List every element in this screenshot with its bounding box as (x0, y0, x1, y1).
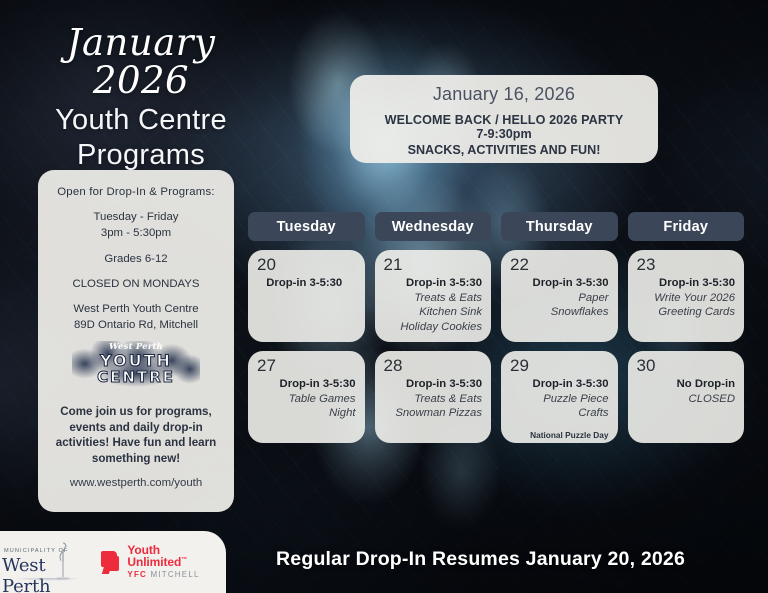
cell-activity-line: Snowflakes (510, 305, 609, 320)
event-date: January 16, 2026 (364, 84, 644, 105)
youth-unlimited-chapter: YFC MITCHELL (127, 569, 218, 580)
cell-date-number: 20 (257, 256, 356, 274)
event-title: WELCOME BACK / HELLO 2026 PARTY (364, 113, 644, 127)
youth-centre-logo: West Perth YOUTH CENTRE (72, 341, 200, 395)
cell-content: Drop-in 3-5:30 Write Your 2026 Greeting … (637, 276, 736, 320)
cell-content: Drop-in 3-5:30 Treats & Eats Snowman Piz… (384, 377, 483, 421)
calendar-cell[interactable]: 21 Drop-in 3-5:30 Treats & Eats Kitchen … (375, 250, 492, 342)
cell-content: Drop-in 3-5:30 Treats & Eats Kitchen Sin… (384, 276, 483, 335)
cell-activity-line: Treats & Eats (384, 392, 483, 407)
day-header-wednesday: Wednesday (375, 212, 492, 241)
day-header-tuesday: Tuesday (248, 212, 365, 241)
info-website-url[interactable]: www.westperth.com/youth (48, 477, 224, 489)
youth-unlimited-logo: Youth Unlimited™ YFC MITCHELL (101, 544, 218, 580)
title-month-year: January 2026 (26, 24, 256, 101)
cell-date-number: 23 (637, 256, 736, 274)
footer-resume-text: Regular Drop-In Resumes January 20, 2026 (276, 548, 685, 571)
cell-activity-line: Treats & Eats (384, 291, 483, 306)
cell-activity-line: Write Your 2026 (637, 291, 736, 306)
cell-activity-line: Puzzle Piece (510, 392, 609, 407)
title-subline-1: Youth Centre (26, 104, 256, 136)
cell-activity-line: Table Games (257, 392, 356, 407)
cell-dropin-label: Drop-in 3-5:30 (510, 276, 609, 291)
cell-date-number: 29 (510, 357, 609, 375)
cell-date-number: 21 (384, 256, 483, 274)
cell-date-number: 28 (384, 357, 483, 375)
info-open-days: Tuesday - Friday (48, 209, 224, 225)
cell-dropin-label: Drop-in 3-5:30 (510, 377, 609, 392)
calendar-cell[interactable]: 27 Drop-in 3-5:30 Table Games Night (248, 351, 365, 443)
event-banner: January 16, 2026 WELCOME BACK / HELLO 20… (350, 75, 658, 163)
cell-dropin-label: No Drop-in (637, 377, 736, 392)
info-open-hours: 3pm - 5:30pm (48, 225, 224, 241)
cell-activity-line: Holiday Cookies (384, 320, 483, 335)
cell-activity-line: Greeting Cards (637, 305, 736, 320)
cell-special-note: National Puzzle Day (501, 430, 609, 440)
cell-activity-line: Snowman Pizzas (384, 406, 483, 421)
cell-dropin-label: Drop-in 3-5:30 (257, 276, 352, 291)
speech-bubble-icon (101, 551, 121, 574)
cell-activity-line: Crafts (510, 406, 609, 421)
calendar-cell[interactable]: 29 Drop-in 3-5:30 Puzzle Piece Crafts Na… (501, 351, 618, 443)
cell-activity-line: Night (257, 406, 356, 421)
info-grades: Grades 6-12 (48, 251, 224, 267)
title-subline-2: Programs (26, 139, 256, 171)
cell-content: Drop-in 3-5:30 Paper Snowflakes (510, 276, 609, 320)
sponsor-logo-bar: MUNICIPALITY OF West Perth Youth Unlimit… (0, 531, 226, 593)
calendar-cell[interactable]: 28 Drop-in 3-5:30 Treats & Eats Snowman … (375, 351, 492, 443)
west-perth-underline (4, 578, 92, 582)
day-header-friday: Friday (628, 212, 745, 241)
event-time: 7-9:30pm (364, 127, 644, 141)
calendar-week-row: 27 Drop-in 3-5:30 Table Games Night 28 D… (248, 351, 744, 443)
calendar-week-row: 20 Drop-in 3-5:30 21 Drop-in 3-5:30 Trea… (248, 250, 744, 342)
poster-canvas: January 2026 Youth Centre Programs Open … (0, 0, 768, 593)
page-title: January 2026 Youth Centre Programs (26, 24, 256, 172)
cell-content: No Drop-in CLOSED (637, 377, 736, 407)
west-perth-logo: MUNICIPALITY OF West Perth (2, 540, 89, 584)
cell-date-number: 27 (257, 357, 356, 375)
cell-content: Drop-in 3-5:30 Puzzle Piece Crafts (510, 377, 609, 421)
cell-activity-line: Kitchen Sink (384, 305, 483, 320)
cell-content: Drop-in 3-5:30 Table Games Night (257, 377, 356, 421)
cell-date-number: 30 (637, 357, 736, 375)
calendar-cell[interactable]: 20 Drop-in 3-5:30 (248, 250, 365, 342)
cell-activity-line: CLOSED (637, 392, 736, 407)
event-details: SNACKS, ACTIVITIES AND FUN! (364, 143, 644, 157)
cell-date-number: 22 (510, 256, 609, 274)
calendar-cell[interactable]: 30 No Drop-in CLOSED (628, 351, 745, 443)
cell-dropin-label: Drop-in 3-5:30 (257, 377, 356, 392)
cell-dropin-label: Drop-in 3-5:30 (384, 276, 483, 291)
heron-icon (52, 541, 74, 581)
cell-activity-line: Paper (510, 291, 609, 306)
logo-centre-text: CENTRE (72, 368, 200, 386)
day-header-thursday: Thursday (501, 212, 618, 241)
info-venue-name: West Perth Youth Centre (48, 301, 224, 317)
cell-dropin-label: Drop-in 3-5:30 (637, 276, 736, 291)
calendar-day-headers: Tuesday Wednesday Thursday Friday (248, 212, 744, 241)
info-venue-address: 89D Ontario Rd, Mitchell (48, 317, 224, 333)
cell-dropin-label: Drop-in 3-5:30 (384, 377, 483, 392)
cell-content: Drop-in 3-5:30 (257, 276, 356, 291)
youth-unlimited-name: Youth Unlimited™ (127, 544, 218, 569)
info-call-to-action: Come join us for programs, events and da… (48, 404, 224, 466)
info-closed-mondays: CLOSED ON MONDAYS (48, 276, 224, 292)
calendar-grid: Tuesday Wednesday Thursday Friday 20 Dro… (248, 212, 744, 443)
calendar-cell[interactable]: 23 Drop-in 3-5:30 Write Your 2026 Greeti… (628, 250, 745, 342)
west-perth-name-text: West Perth (2, 555, 89, 593)
info-panel: Open for Drop-In & Programs: Tuesday - F… (38, 170, 234, 512)
calendar-cell[interactable]: 22 Drop-in 3-5:30 Paper Snowflakes (501, 250, 618, 342)
info-heading: Open for Drop-In & Programs: (48, 184, 224, 200)
